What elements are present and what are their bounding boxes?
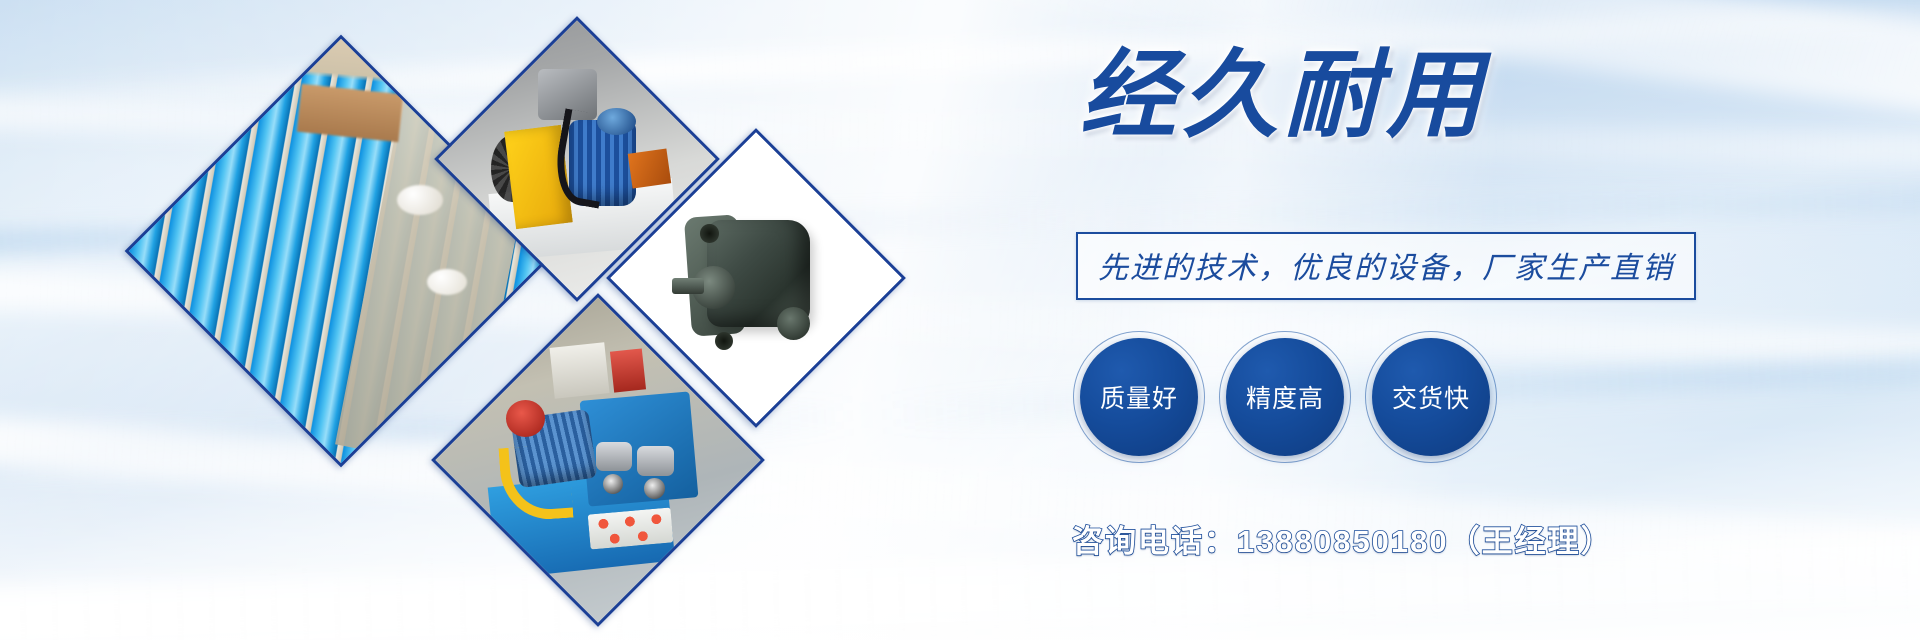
badge-delivery[interactable]: 交货快 [1372,338,1490,456]
badge-precision[interactable]: 精度高 [1226,338,1344,456]
banner-text-content: 经久耐用 先进的技术，优良的设备，厂家生产直销 质量好 精度高 交货快 咨询电话… [1060,0,1760,640]
product-image-collage [150,20,870,620]
subtitle-box: 先进的技术，优良的设备，厂家生产直销 [1076,232,1696,300]
feature-badges: 质量好 精度高 交货快 [1080,338,1490,456]
contact-phone[interactable]: 咨询电话：13880850180（王经理） [1072,516,1614,561]
badge-precision-label: 精度高 [1246,379,1324,415]
headline: 经久耐用 [1080,48,1488,144]
badge-quality[interactable]: 质量好 [1080,338,1198,456]
promo-banner: 经久耐用 先进的技术，优良的设备，厂家生产直销 质量好 精度高 交货快 咨询电话… [0,0,1920,640]
badge-delivery-label: 交货快 [1392,379,1470,415]
subtitle-text: 先进的技术，优良的设备，厂家生产直销 [1098,243,1674,287]
badge-quality-label: 质量好 [1100,379,1178,415]
